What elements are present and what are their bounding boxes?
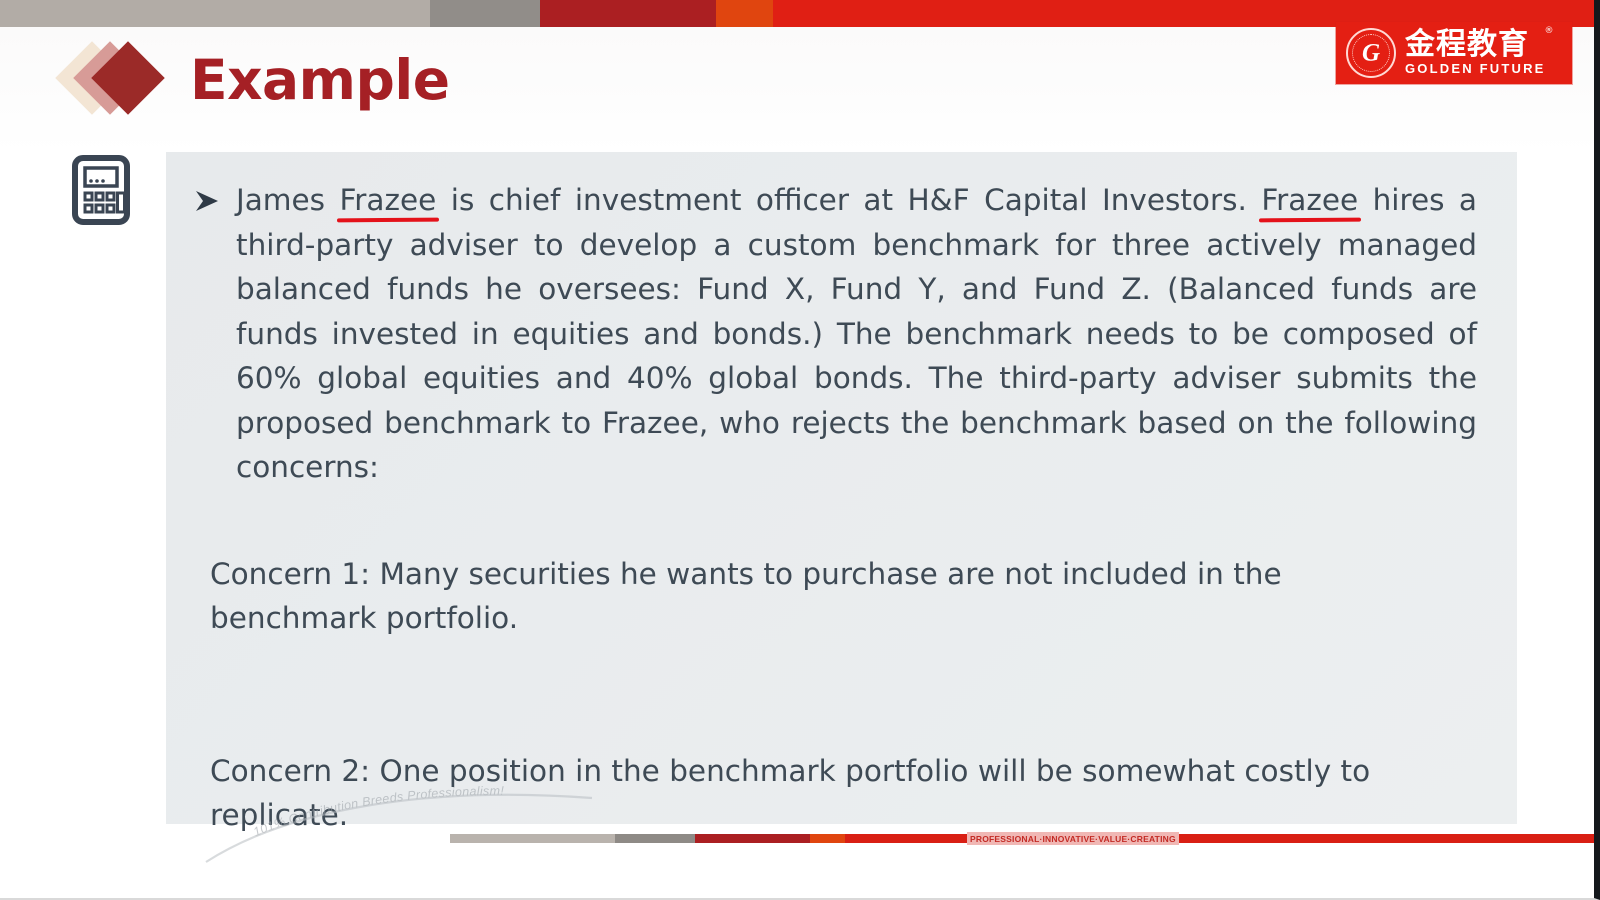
bottombar-segment-3: [695, 834, 810, 843]
text-middle: is chief investment officer at H&F Capit…: [436, 183, 1261, 217]
main-bullet-row: James Frazee is chief investment officer…: [192, 178, 1477, 490]
concern-2-text: Concern 2: One position in the benchmark…: [210, 749, 1400, 838]
highlighted-name-2: Frazee: [1261, 178, 1358, 223]
topbar-segment-4: [716, 0, 773, 27]
highlighted-name-1: Frazee: [339, 178, 436, 223]
concern-1-text: Concern 1: Many securities he wants to p…: [210, 552, 1400, 641]
text-before-name-1: James: [236, 183, 339, 217]
arrow-bullet-icon: [192, 178, 222, 490]
diamond-logo-icon: [60, 36, 172, 122]
brand-seal-monogram: G: [1348, 41, 1394, 66]
brand-registered-mark: ®: [1545, 27, 1555, 36]
page-title: Example: [190, 53, 450, 108]
slide-canvas: G 金程教育® GOLDEN FUTURE Example: [0, 0, 1600, 900]
content-panel: James Frazee is chief investment officer…: [166, 152, 1517, 824]
main-paragraph: James Frazee is chief investment officer…: [236, 178, 1477, 490]
calculator-icon: [72, 155, 130, 225]
brand-wordmark: 金程教育® GOLDEN FUTURE: [1405, 29, 1546, 77]
brand-logo: G 金程教育® GOLDEN FUTURE: [1336, 22, 1572, 84]
slide-title-row: Example: [60, 36, 450, 122]
bottombar-segment-1: [450, 834, 615, 843]
brand-name-cn-text: 金程教育: [1405, 27, 1529, 62]
brand-name-cn: 金程教育®: [1405, 29, 1546, 61]
bottombar-segment-4: [810, 834, 845, 843]
brand-name-en: GOLDEN FUTURE: [1405, 61, 1546, 77]
topbar-segment-2: [430, 0, 540, 27]
topbar-segment-1: [0, 0, 430, 27]
brand-seal-icon: G: [1346, 28, 1396, 78]
bottombar-segment-5: [845, 834, 1600, 843]
bottombar-segment-2: [615, 834, 695, 843]
topbar-segment-3: [540, 0, 716, 27]
text-rest: hires a third-party adviser to develop a…: [236, 183, 1477, 484]
footer-tagline: PROFESSIONAL·INNOVATIVE·VALUE·CREATING: [967, 832, 1179, 845]
